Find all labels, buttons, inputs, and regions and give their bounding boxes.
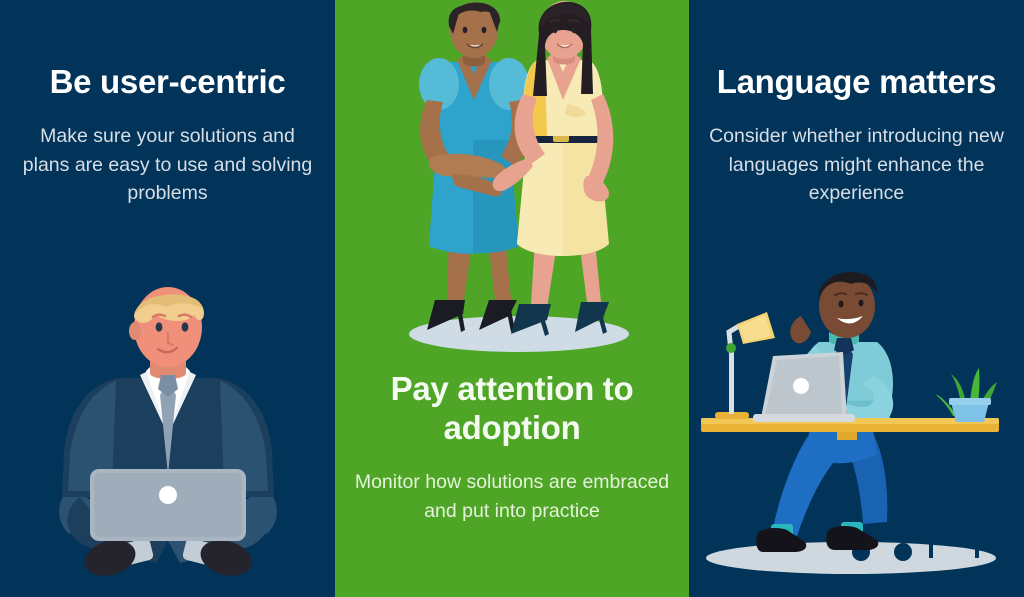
two-women-shaking-hands-icon bbox=[391, 8, 641, 358]
left-panel-text-block: Be user-centric Make sure your solutions… bbox=[0, 63, 335, 208]
left-panel-description: Make sure your solutions and plans are e… bbox=[18, 122, 317, 208]
man-at-desk-laptop-lamp-plant-icon bbox=[701, 290, 1011, 580]
man-crosslegged-laptop-icon bbox=[28, 283, 308, 583]
panel-language-matters: Language matters Consider whether introd… bbox=[689, 0, 1024, 597]
panel-be-user-centric: Be user-centric Make sure your solutions… bbox=[0, 0, 335, 597]
panel-pay-attention-to-adoption: Pay attention to adoption Monitor how so… bbox=[335, 0, 689, 597]
mid-panel-description: Monitor how solutions are embraced and p… bbox=[353, 468, 671, 525]
man-with-laptop-illustration bbox=[28, 283, 308, 583]
man-at-desk-illustration bbox=[701, 290, 1011, 580]
mid-panel-text-block: Pay attention to adoption Monitor how so… bbox=[335, 370, 689, 525]
right-panel-description: Consider whether introducing new languag… bbox=[707, 122, 1006, 208]
mid-panel-title: Pay attention to adoption bbox=[353, 370, 671, 448]
right-panel-title: Language matters bbox=[707, 63, 1006, 102]
right-panel-text-block: Language matters Consider whether introd… bbox=[689, 63, 1024, 208]
two-women-handshake-illustration bbox=[391, 8, 641, 358]
three-panel-infographic: Be user-centric Make sure your solutions… bbox=[0, 0, 1024, 597]
left-panel-title: Be user-centric bbox=[18, 63, 317, 102]
